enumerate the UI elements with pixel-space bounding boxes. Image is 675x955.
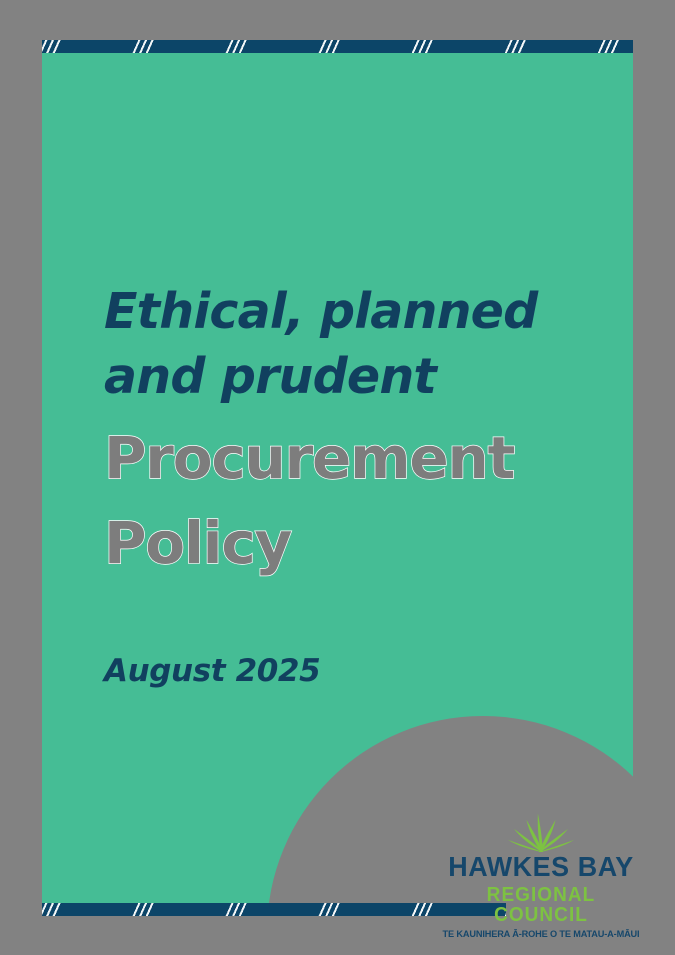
subject-line-2: Policy: [104, 508, 614, 579]
council-logo: HAWKES BAY REGIONAL COUNCIL TE KAUNIHERA…: [441, 812, 641, 939]
navy-diagonal-pattern-band-top: [42, 40, 633, 53]
navy-diagonal-pattern-band-bottom: [42, 903, 506, 916]
logo-maori-text: TE KAUNIHERA Ā-ROHE O TE MATAU-A-MĀUI: [441, 930, 641, 939]
document-page: Ethical, planned and prudent Procurement…: [0, 0, 675, 955]
cover-text-block: Ethical, planned and prudent Procurement…: [104, 280, 614, 689]
issue-date: August 2025: [104, 653, 614, 689]
headline-line-1: Ethical, planned: [104, 280, 614, 345]
fern-leaves-icon: [481, 812, 601, 852]
cover-panel: Ethical, planned and prudent Procurement…: [42, 40, 633, 916]
headline-line-2: and prudent: [104, 345, 614, 410]
logo-primary-text: HAWKES BAY: [445, 853, 637, 881]
logo-secondary-text: REGIONAL COUNCIL: [446, 885, 636, 925]
subject-line-1: Procurement: [104, 423, 614, 494]
